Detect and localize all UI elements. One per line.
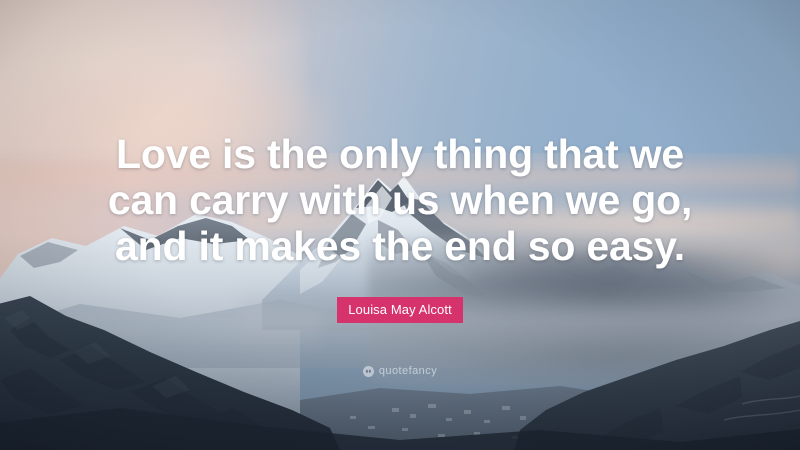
quote-mark-icon bbox=[363, 366, 374, 377]
author-badge-container: Louisa May Alcott bbox=[0, 297, 800, 323]
author-badge[interactable]: Louisa May Alcott bbox=[337, 297, 463, 323]
quote-line-1: Love is the only thing that we bbox=[60, 131, 740, 177]
quote-line-3: and it makes the end so easy. bbox=[60, 223, 740, 269]
quote-text: Love is the only thing that we can carry… bbox=[0, 131, 800, 269]
watermark[interactable]: quotefancy bbox=[0, 366, 800, 377]
watermark-brand: quotefancy bbox=[379, 366, 437, 377]
quote-image-canvas: Love is the only thing that we can carry… bbox=[0, 0, 800, 450]
quote-line-2: can carry with us when we go, bbox=[60, 177, 740, 223]
